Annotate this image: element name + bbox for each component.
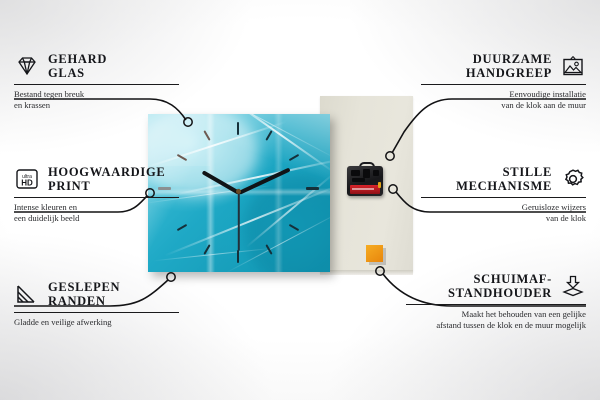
- callout-polished-edges: GESLEPEN RANDEN Gladde en veilige afwerk…: [14, 280, 179, 328]
- callout-hd-print: ultraHD HOOGWAARDIGE PRINT Intense kleur…: [14, 165, 179, 224]
- glass-reflection-line: [274, 114, 283, 272]
- mechanism-detail: [351, 170, 360, 176]
- callout-divider: [406, 304, 586, 305]
- callout-title: DUURZAME HANDGREEP: [466, 52, 552, 80]
- press-pad-icon: [560, 274, 586, 298]
- infographic-canvas: GEHARD GLAS Bestand tegen breuk en krass…: [0, 0, 600, 400]
- battery-terminal: [378, 182, 381, 188]
- callout-subtitle: Bestand tegen breuk: [14, 89, 179, 100]
- callout-subtitle: Intense kleuren en: [14, 202, 179, 213]
- glass-reflection: [148, 114, 210, 166]
- gear-icon: [560, 167, 586, 191]
- callout-subtitle: en krassen: [14, 100, 179, 111]
- callout-subtitle: van de klok: [421, 213, 586, 224]
- ultra-hd-icon: ultraHD: [14, 167, 40, 191]
- mechanism-detail: [373, 170, 379, 176]
- mechanism-body: [347, 166, 383, 196]
- callout-title: GEHARD GLAS: [48, 52, 107, 80]
- callout-subtitle: Maakt het behouden van een gelijke: [406, 309, 586, 320]
- callout-tempered-glass: GEHARD GLAS Bestand tegen breuk en krass…: [14, 52, 179, 111]
- callout-subtitle: Gladde en veilige afwerking: [14, 317, 179, 328]
- callout-silent-mechanism: STILLE MECHANISME Geruisloze wijzers van…: [421, 165, 586, 224]
- callout-title-row: GEHARD GLAS: [14, 52, 179, 80]
- callout-divider: [14, 197, 179, 198]
- mechanism-detail: [352, 178, 365, 182]
- battery-label: [352, 188, 374, 190]
- mechanism-detail: [363, 169, 370, 178]
- callout-subtitle: een duidelijk beeld: [14, 213, 179, 224]
- beveled-edge-icon: [14, 282, 40, 306]
- clock-tick: [177, 224, 188, 231]
- callout-divider: [14, 84, 179, 85]
- wall-panel-edge: [320, 270, 413, 275]
- clock-tick: [306, 187, 319, 190]
- clock-center-cap: [236, 189, 241, 194]
- callout-subtitle: van de klok aan de muur: [421, 100, 586, 111]
- callout-title: GESLEPEN RANDEN: [48, 280, 120, 308]
- callout-title: HOOGWAARDIGE PRINT: [48, 165, 165, 193]
- callout-subtitle: Eenvoudige installatie: [421, 89, 586, 100]
- clock-tick: [237, 250, 239, 263]
- callout-divider: [14, 312, 179, 313]
- clock-tick: [289, 154, 300, 161]
- callout-title: SCHUIMAF- STANDHOUDER: [448, 272, 552, 300]
- picture-frame-icon: [560, 54, 586, 78]
- callout-divider: [421, 84, 586, 85]
- foam-spacer: [366, 245, 383, 262]
- callout-subtitle: Geruisloze wijzers: [421, 202, 586, 213]
- callout-divider: [421, 197, 586, 198]
- callout-title-row: SCHUIMAF- STANDHOUDER: [406, 272, 586, 300]
- callout-subtitle: afstand tussen de klok en de muur mogeli…: [406, 320, 586, 331]
- clock-tick: [265, 130, 272, 141]
- svg-text:HD: HD: [21, 179, 33, 188]
- diamond-icon: [14, 54, 40, 78]
- callout-durable-hanger: DUURZAME HANDGREEP Eenvoudige installati…: [421, 52, 586, 111]
- clock-mechanism: [347, 162, 383, 196]
- callout-title: STILLE MECHANISME: [456, 165, 552, 193]
- callout-foam-spacer: SCHUIMAF- STANDHOUDER Maakt het behouden…: [406, 272, 586, 331]
- callout-title-row: DUURZAME HANDGREEP: [421, 52, 586, 80]
- clock-tick: [237, 122, 239, 135]
- callout-title-row: STILLE MECHANISME: [421, 165, 586, 193]
- callout-title-row: GESLEPEN RANDEN: [14, 280, 179, 308]
- callout-title-row: ultraHD HOOGWAARDIGE PRINT: [14, 165, 179, 193]
- clock-second-hand: [238, 193, 240, 251]
